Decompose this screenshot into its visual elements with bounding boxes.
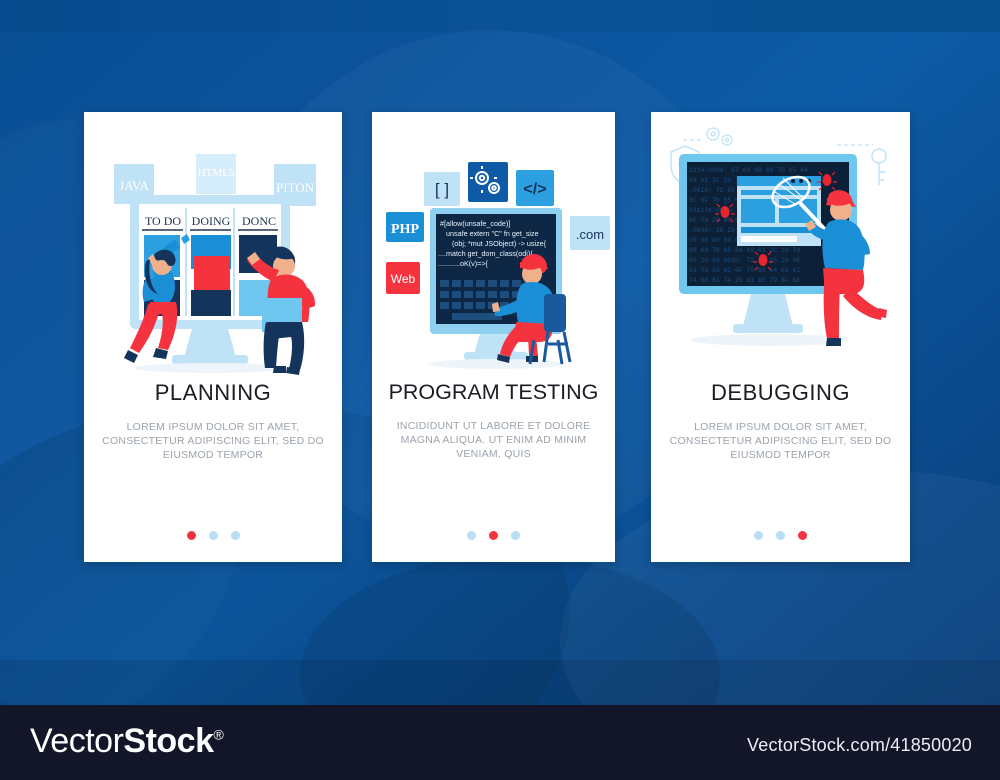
tag-com-label: .com [576, 227, 604, 242]
card-subtitle: INCIDIDUNT UT LABORE ET DOLORE MAGNA ALI… [372, 419, 615, 461]
pagination-dot-1[interactable] [754, 531, 763, 540]
code-line-2: unsafe extern "C" fn get_size [446, 229, 539, 238]
tag-java-label: JAVA [119, 178, 149, 193]
background-top-band [0, 0, 1000, 32]
column-doing-label: DOING [192, 214, 231, 228]
card-title: PLANNING [84, 380, 342, 406]
column-donc-label: DONC [242, 214, 276, 228]
onboarding-card-program-testing[interactable]: [ ] </> PHP Web .com [372, 112, 615, 562]
onboarding-card-planning[interactable]: JAVA HTML5 PITON TO DO [84, 112, 342, 562]
code-line-5: ...........oK(v)=>{ [438, 259, 489, 268]
svg-text:65 20 66 0010: 72 65 65 20 6E: 65 20 66 0010: 72 65 65 20 6E [689, 257, 800, 264]
tag-code-label: </> [523, 181, 546, 198]
card-title: DEBUGGING [651, 380, 910, 406]
pagination-dot-2[interactable] [776, 531, 785, 540]
card-title: PROGRAM TESTING [372, 380, 615, 405]
pagination-dots[interactable] [651, 531, 910, 540]
logo-light-text: Vector [30, 722, 123, 760]
background-bottom-band [0, 660, 1000, 705]
svg-text:6B 69 70 65 64 69 61 2C 20 74: 6B 69 70 65 64 69 61 2C 20 74 [689, 247, 800, 254]
pagination-dot-1[interactable] [187, 531, 196, 540]
program-testing-illustration: [ ] </> PHP Web .com [372, 112, 615, 380]
watermark-footer: VectorStock® VectorStock.com/41850020 [0, 705, 1000, 780]
pagination-dot-1[interactable] [467, 531, 476, 540]
pagination-dot-2[interactable] [489, 531, 498, 540]
tag-piton-label: PITON [276, 180, 315, 195]
column-todo-label: TO DO [145, 214, 181, 228]
pagination-dot-2[interactable] [209, 531, 218, 540]
registered-mark: ® [213, 727, 223, 743]
code-line-4: ....match get_dom_class(odj){ [438, 249, 533, 258]
pagination-dot-3[interactable] [231, 531, 240, 540]
pagination-dot-3[interactable] [511, 531, 520, 540]
vectorstock-url: VectorStock.com/41850020 [747, 735, 972, 756]
svg-text:63 79 63 6C 6F 70 65 64 69 61: 63 79 63 6C 6F 70 65 64 69 61 [689, 267, 800, 274]
tag-html5-label: HTML5 [198, 167, 235, 179]
pagination-dot-3[interactable] [798, 531, 807, 540]
tag-brackets-label: [ ] [435, 180, 449, 199]
vectorstock-logo: VectorStock® [30, 722, 223, 761]
pagination-dots[interactable] [372, 531, 615, 540]
card-subtitle: LOREM IPSUM DOLOR SIT AMET, CONSECTETUR … [651, 420, 910, 462]
logo-bold-text: Stock [123, 722, 213, 760]
card-subtitle: LOREM IPSUM DOLOR SIT AMET, CONSECTETUR … [84, 420, 342, 462]
gear-outline-icon [707, 128, 732, 145]
screenshot-stage: JAVA HTML5 PITON TO DO [0, 0, 1000, 780]
svg-text:74 68 61 74 20 61 6E 79 6F 6E: 74 68 61 74 20 61 6E 79 6F 6E [689, 277, 800, 284]
code-line-3: (obj; *mut JSObject) -> usize{ [452, 239, 547, 248]
tag-php-label: PHP [391, 222, 419, 237]
code-line-1: #[allow(unsafe_code)] [440, 219, 510, 228]
key-icon [872, 149, 886, 185]
planning-illustration: JAVA HTML5 PITON TO DO [84, 112, 342, 380]
pagination-dots[interactable] [84, 531, 342, 540]
tag-web-label: Web [391, 272, 416, 286]
debugging-illustration: 1234:0000: 57 69 6B 69 70 65 64 69 61 2C… [651, 112, 910, 380]
svg-text:1234:0000: 57 69 6B 69 70 65 6: 1234:0000: 57 69 6B 69 70 65 64 [689, 167, 808, 174]
onboarding-card-debugging[interactable]: 1234:0000: 57 69 6B 69 70 65 64 69 61 2C… [651, 112, 910, 562]
